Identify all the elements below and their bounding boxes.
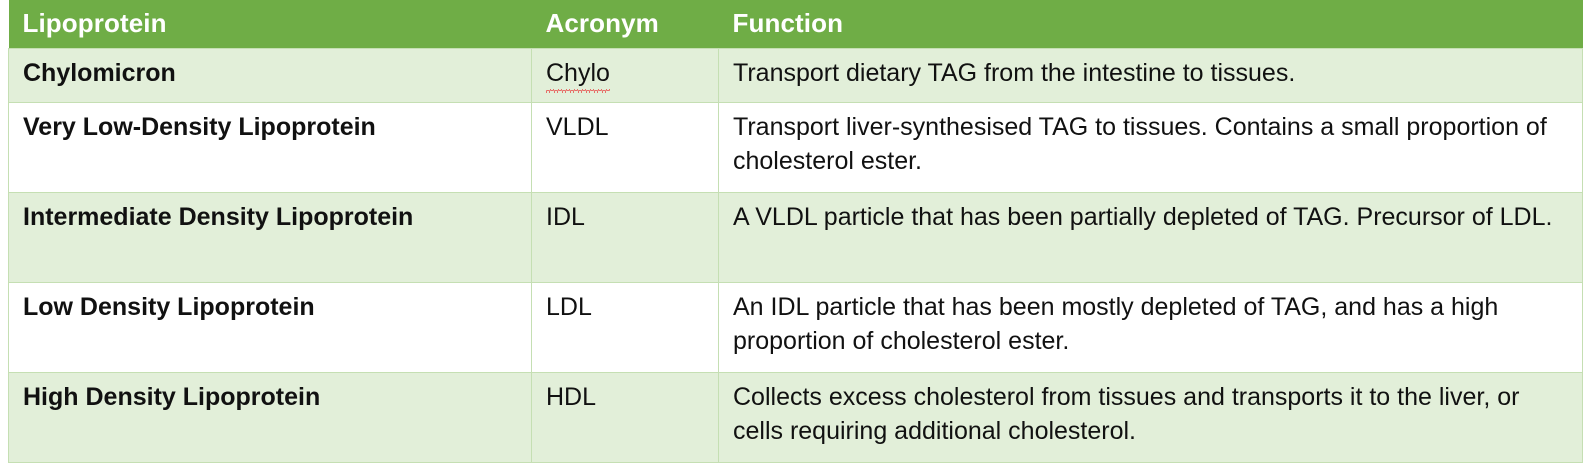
cell-lipoprotein: Very Low-Density Lipoprotein: [9, 103, 532, 193]
column-header-lipoprotein: Lipoprotein: [9, 0, 532, 49]
table-row: Very Low-Density Lipoprotein VLDL Transp…: [9, 103, 1583, 193]
table-row: High Density Lipoprotein HDL Collects ex…: [9, 373, 1583, 463]
column-header-acronym: Acronym: [532, 0, 719, 49]
lipoprotein-table: Lipoprotein Acronym Function Chylomicron…: [8, 0, 1583, 463]
table-row: Chylomicron Chylo Transport dietary TAG …: [9, 49, 1583, 103]
cell-function: Transport dietary TAG from the intestine…: [719, 49, 1583, 103]
lipoprotein-table-container: Lipoprotein Acronym Function Chylomicron…: [8, 0, 1582, 463]
table-row: Intermediate Density Lipoprotein IDL A V…: [9, 193, 1583, 283]
cell-acronym: Chylo: [532, 49, 719, 103]
cell-acronym: IDL: [532, 193, 719, 283]
cell-lipoprotein: Chylomicron: [9, 49, 532, 103]
spellcheck-underlined-word: Chylo: [546, 56, 610, 92]
cell-acronym: VLDL: [532, 103, 719, 193]
table-header-row: Lipoprotein Acronym Function: [9, 0, 1583, 49]
cell-function: Transport liver-synthesised TAG to tissu…: [719, 103, 1583, 193]
cell-acronym: HDL: [532, 373, 719, 463]
table-header: Lipoprotein Acronym Function: [9, 0, 1583, 49]
table-body: Chylomicron Chylo Transport dietary TAG …: [9, 49, 1583, 463]
column-header-function: Function: [719, 0, 1583, 49]
table-row: Low Density Lipoprotein LDL An IDL parti…: [9, 283, 1583, 373]
cell-function: An IDL particle that has been mostly dep…: [719, 283, 1583, 373]
cell-function: Collects excess cholesterol from tissues…: [719, 373, 1583, 463]
cell-acronym: LDL: [532, 283, 719, 373]
cell-function: A VLDL particle that has been partially …: [719, 193, 1583, 283]
cell-lipoprotein: Low Density Lipoprotein: [9, 283, 532, 373]
cell-lipoprotein: Intermediate Density Lipoprotein: [9, 193, 532, 283]
cell-lipoprotein: High Density Lipoprotein: [9, 373, 532, 463]
